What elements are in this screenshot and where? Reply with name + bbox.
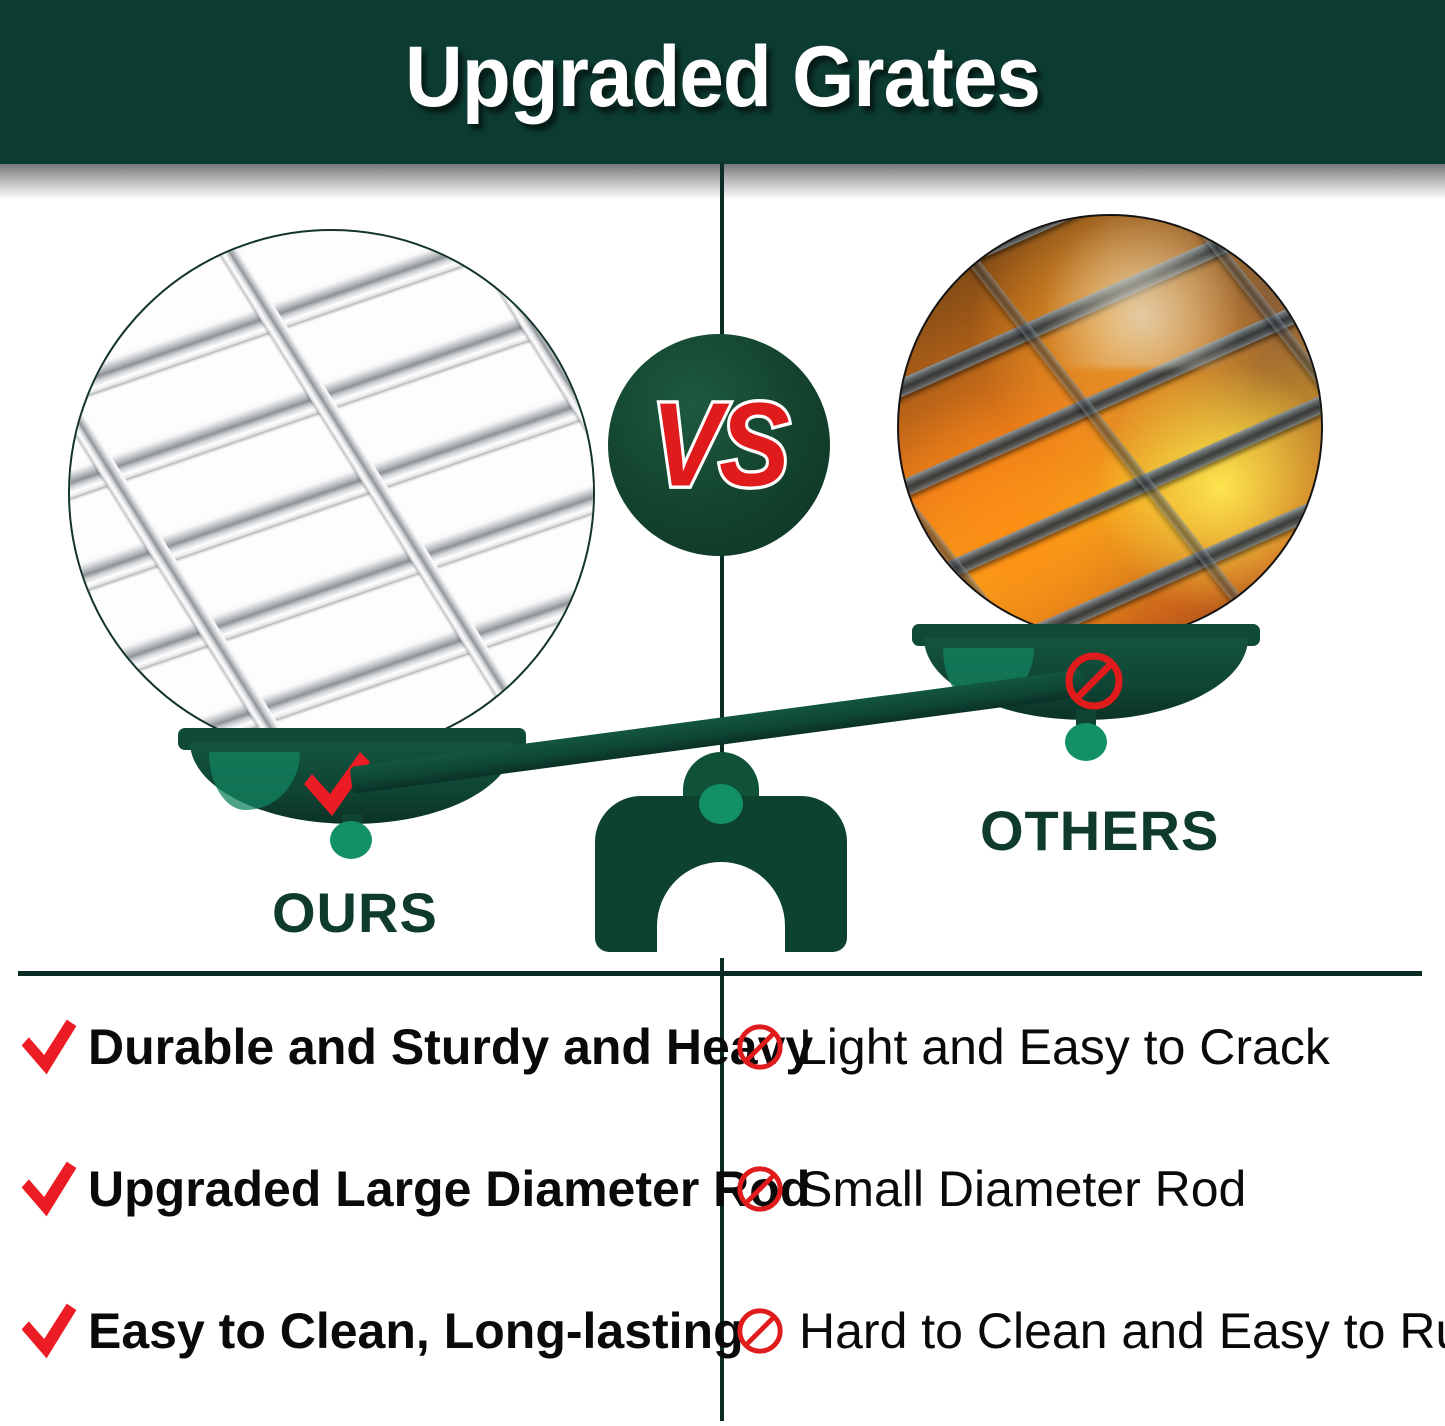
feature-label: Hard to Clean and Easy to Rust	[799, 1306, 1445, 1356]
prohibition-sign-icon	[735, 1164, 785, 1214]
check-mark-icon	[20, 1302, 78, 1360]
feature-row: Durable and Sturdy and Heavy	[20, 1008, 813, 1086]
feature-label: Upgraded Large Diameter Rod	[88, 1164, 810, 1214]
infographic-page: Upgraded Grates	[0, 0, 1445, 1426]
others-scale-label: OTHERS	[980, 798, 1219, 863]
beam-left-pivot	[330, 821, 372, 859]
beam-right-pivot	[1065, 723, 1107, 761]
feature-comparison-lists: Durable and Sturdy and Heavy Upgraded La…	[0, 990, 1445, 1410]
page-title: Upgraded Grates	[51, 28, 1395, 127]
check-mark-icon	[20, 1160, 78, 1218]
vs-badge: VS	[608, 334, 830, 556]
feature-label: Small Diameter Rod	[799, 1164, 1246, 1214]
feature-label: Light and Easy to Crack	[799, 1022, 1330, 1072]
vs-label: VS	[651, 377, 786, 513]
ours-scale-label: OURS	[272, 880, 438, 945]
feature-label: Durable and Sturdy and Heavy	[88, 1022, 813, 1072]
feature-row: Upgraded Large Diameter Rod	[20, 1150, 810, 1228]
header-banner: Upgraded Grates	[0, 0, 1445, 164]
balance-scale	[0, 600, 1445, 975]
feature-row: Hard to Clean and Easy to Rust	[735, 1292, 1445, 1370]
fulcrum-pivot-dot	[699, 784, 743, 824]
prohibition-sign-icon	[735, 1306, 785, 1356]
feature-label: Easy to Clean, Long-lasting	[88, 1306, 744, 1356]
smoke-wisp	[1026, 214, 1258, 368]
others-product-photo	[897, 214, 1323, 640]
scale-fulcrum	[595, 752, 847, 952]
check-mark-icon	[20, 1018, 78, 1076]
feature-row: Small Diameter Rod	[735, 1150, 1246, 1228]
prohibition-sign-icon	[735, 1022, 785, 1072]
feature-row: Easy to Clean, Long-lasting	[20, 1292, 744, 1370]
feature-row: Light and Easy to Crack	[735, 1008, 1330, 1086]
prohibition-sign-icon	[1063, 650, 1125, 712]
